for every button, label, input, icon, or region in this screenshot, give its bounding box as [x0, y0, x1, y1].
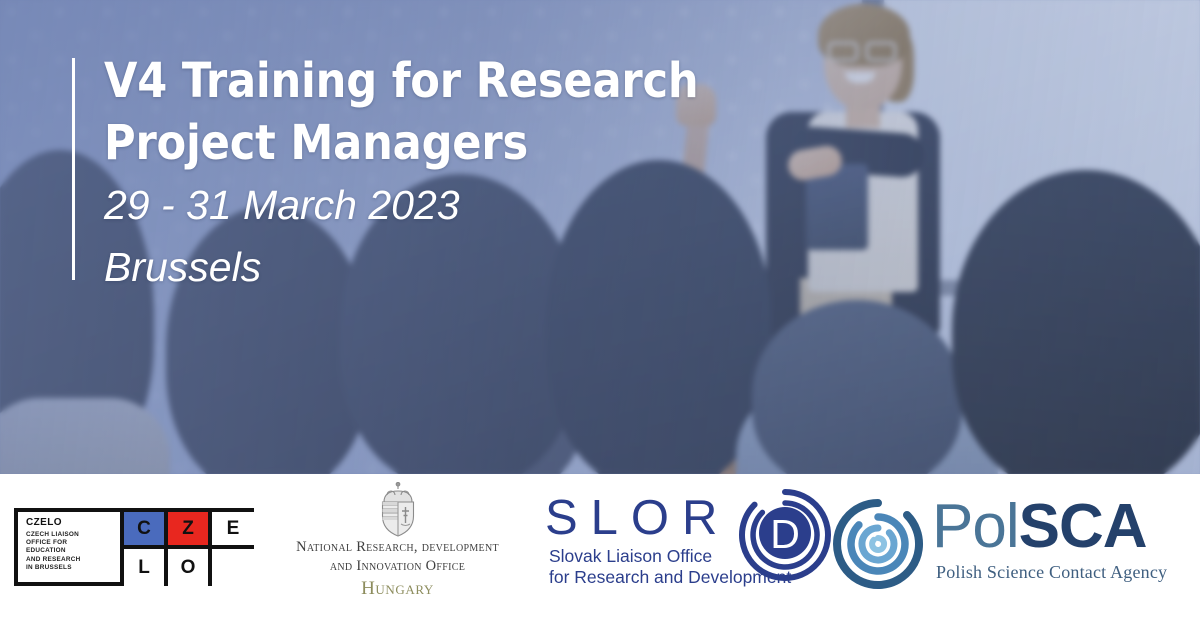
hungary-coat-of-arms-icon — [375, 482, 421, 538]
czelo-name: CZELO — [26, 517, 120, 529]
polsca-word-light: Pol — [932, 492, 1019, 561]
event-date: 29 - 31 March 2023 — [104, 174, 824, 236]
czelo-cell-l: L — [124, 549, 168, 586]
hero-text-block: V4 Training for Research Project Manager… — [104, 50, 824, 298]
slord-wordmark: SLOR — [545, 492, 730, 544]
czelo-cell-o: O — [168, 549, 212, 586]
logo-nkfih-hungary: National Research, development and Innov… — [265, 482, 530, 612]
czelo-text-block: CZELO CZECH LIAISON OFFICE FOR EDUCATION… — [18, 512, 124, 586]
polsca-wordmark: PolSCA — [932, 490, 1147, 564]
nkfih-title: National Research, development and Innov… — [265, 538, 530, 576]
logo-czelo: CZELO CZECH LIAISON OFFICE FOR EDUCATION… — [14, 508, 254, 586]
event-title: V4 Training for Research Project Manager… — [104, 50, 824, 174]
hero-section: V4 Training for Research Project Manager… — [0, 0, 1200, 474]
slord-subtitle: Slovak Liaison Office for Research and D… — [549, 546, 791, 588]
polsca-spiral-icon — [832, 498, 924, 590]
czelo-cell-blank — [212, 549, 254, 586]
nkfih-country: Hungary — [265, 577, 530, 600]
polsca-subtitle: Polish Science Contact Agency — [936, 562, 1167, 583]
czelo-cell-e: E — [212, 512, 254, 549]
accent-bar — [72, 58, 75, 280]
czelo-cell-z: Z — [168, 512, 212, 549]
event-banner: V4 Training for Research Project Manager… — [0, 0, 1200, 628]
czelo-subtitle: CZECH LIAISON OFFICE FOR EDUCATION AND R… — [26, 531, 120, 572]
logo-polsca: PolSCA Polish Science Contact Agency — [832, 496, 1194, 592]
event-location: Brussels — [104, 236, 824, 298]
polsca-word-bold: SCA — [1019, 492, 1147, 561]
czelo-cell-c: C — [124, 512, 168, 549]
logo-slord: SLOR D Slovak Liaison Office for Researc… — [545, 492, 835, 598]
